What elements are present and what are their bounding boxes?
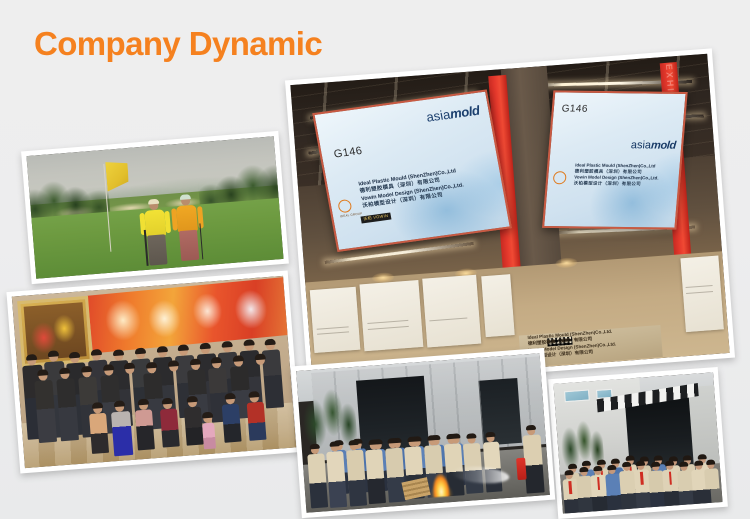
golfer-legs: [179, 229, 199, 260]
group-child: [202, 422, 216, 449]
booth-poster: [360, 280, 423, 352]
person-head: [212, 359, 222, 369]
person-head: [350, 442, 359, 451]
person-head: [447, 436, 456, 445]
person-head: [311, 445, 320, 454]
group-person: [246, 401, 266, 440]
person-head: [49, 353, 59, 363]
poster-text-line: [686, 291, 712, 294]
booth-photo-frame: EXHIBITION asiamold G146 Ideal Plastic M…: [290, 54, 729, 384]
golfer-torso: [144, 209, 166, 237]
person-head: [486, 434, 495, 443]
booth-poster: [310, 287, 361, 354]
person-head: [82, 368, 92, 378]
person-head: [580, 469, 587, 476]
golfer-legs: [147, 234, 167, 265]
person-head: [157, 348, 167, 358]
fire-drill-scene: [296, 353, 550, 512]
person-head: [256, 356, 266, 366]
fire-extinguisher-icon: [516, 458, 527, 481]
person-head: [637, 463, 644, 470]
group-person: [160, 408, 180, 447]
building-window: [564, 389, 590, 403]
person-head: [234, 357, 244, 367]
person-head: [467, 435, 476, 444]
golfer-yellow-shirt: [140, 200, 173, 268]
person-head: [680, 463, 687, 470]
person-head: [695, 462, 702, 469]
ideal-ring-icon: [553, 171, 567, 184]
fire-photo-frame: [296, 353, 550, 512]
golfer-cap: [180, 194, 191, 200]
booth-spotlight-glow: [555, 257, 578, 269]
person-head: [138, 401, 148, 411]
asiamold-logo-bold: mold: [449, 102, 481, 121]
training-fire: [425, 462, 455, 498]
booth-poster: [681, 256, 724, 332]
poster-text-line: [317, 327, 349, 330]
group-person: [222, 403, 242, 442]
group-person: [135, 410, 155, 451]
person-head: [608, 467, 615, 474]
person-head: [222, 343, 232, 353]
photo-collage: EXHIBITION asiamold G146 Ideal Plastic M…: [0, 0, 750, 519]
employee-assembly-photo[interactable]: [548, 367, 728, 519]
poster-text-line: [430, 317, 468, 321]
poster-text-line: [367, 320, 408, 324]
asiamold-trade-show-booth-photo[interactable]: EXHIBITION asiamold G146 Ideal Plastic M…: [285, 48, 735, 389]
asiamold-logo: asiamold: [425, 102, 481, 124]
booth-poster: [422, 275, 481, 348]
red-tie: [597, 477, 600, 490]
poster-text-line: [317, 332, 349, 335]
group-scene: [12, 276, 296, 468]
person-head: [92, 405, 102, 415]
red-tie: [669, 472, 672, 485]
booth-poster: [481, 274, 515, 337]
person-head: [27, 356, 37, 366]
page-title: Company Dynamic: [34, 22, 322, 66]
sign-company-block: Ideal Plastic Mould (ShenZhen)Co.,Ltd 德利…: [573, 162, 676, 187]
person-head: [136, 350, 146, 360]
group-photo-frame: [12, 276, 296, 468]
person-head: [623, 464, 630, 471]
sign-partner-cn: 沃柏模型设计（深圳）有限公司: [573, 180, 675, 187]
person-head: [190, 361, 200, 371]
fire-safety-drill-photo[interactable]: [291, 348, 555, 518]
red-tie: [640, 472, 643, 485]
person-head: [666, 462, 673, 469]
person-head: [527, 427, 536, 436]
golf-outing-photo[interactable]: [21, 131, 289, 284]
person-head: [369, 441, 378, 450]
group-person: [111, 411, 133, 456]
person-head: [408, 439, 417, 448]
ideal-ring-icon: [337, 199, 352, 214]
person-head: [566, 472, 573, 479]
ideal-group-label: IDEAL GROUP: [340, 212, 358, 218]
person-head: [330, 443, 339, 452]
person-head: [179, 346, 189, 356]
person-head: [38, 371, 48, 381]
drill-employee: [307, 453, 328, 508]
ideal-group-logo-icon: [553, 171, 567, 186]
person-head: [652, 464, 659, 471]
group-person: [89, 413, 109, 454]
golf-scene: [26, 136, 283, 278]
person-head: [201, 345, 211, 355]
person-head: [594, 468, 601, 475]
annual-party-group-photo[interactable]: [6, 270, 301, 473]
poster-text-line: [686, 285, 712, 288]
golfer-orange-shirt: [172, 195, 205, 265]
red-tie: [568, 481, 571, 494]
person-head: [125, 365, 135, 375]
person-head: [115, 402, 125, 412]
assembly-photo-frame: [553, 372, 722, 513]
booth-hanging-sign-side: asiamold G146 Ideal Plastic Mould (ShenZ…: [542, 90, 687, 229]
booth-scene: EXHIBITION asiamold G146 Ideal Plastic M…: [290, 54, 729, 384]
assembly-scene: [553, 372, 722, 513]
person-head: [428, 437, 437, 446]
golf-photo-frame: [26, 136, 283, 278]
asiamold-logo-bold: mold: [650, 139, 676, 151]
booth-number: G146: [561, 103, 588, 114]
sign-wave-graphic: [582, 146, 687, 229]
booth-number: G146: [333, 144, 363, 160]
person-head: [104, 367, 114, 377]
poster-text-line: [368, 325, 409, 329]
group-person: [184, 406, 204, 445]
person-head: [707, 461, 714, 468]
asiamold-logo-light: asia: [425, 106, 451, 124]
person-head: [202, 414, 212, 424]
person-head: [244, 342, 254, 352]
ideal-group-logo-icon: IDEAL GROUP: [337, 198, 357, 219]
person-head: [389, 440, 398, 449]
assembly-employee: [704, 468, 720, 503]
person-head: [60, 369, 70, 379]
asiamold-logo-light: asia: [630, 139, 651, 151]
booth-hanging-sign-main: asiamold G146 Ideal Plastic Mould (ShenZ…: [312, 89, 511, 252]
golfer-cap: [148, 198, 159, 204]
asiamold-logo: asiamold: [630, 139, 676, 152]
golfer-torso: [176, 204, 198, 232]
